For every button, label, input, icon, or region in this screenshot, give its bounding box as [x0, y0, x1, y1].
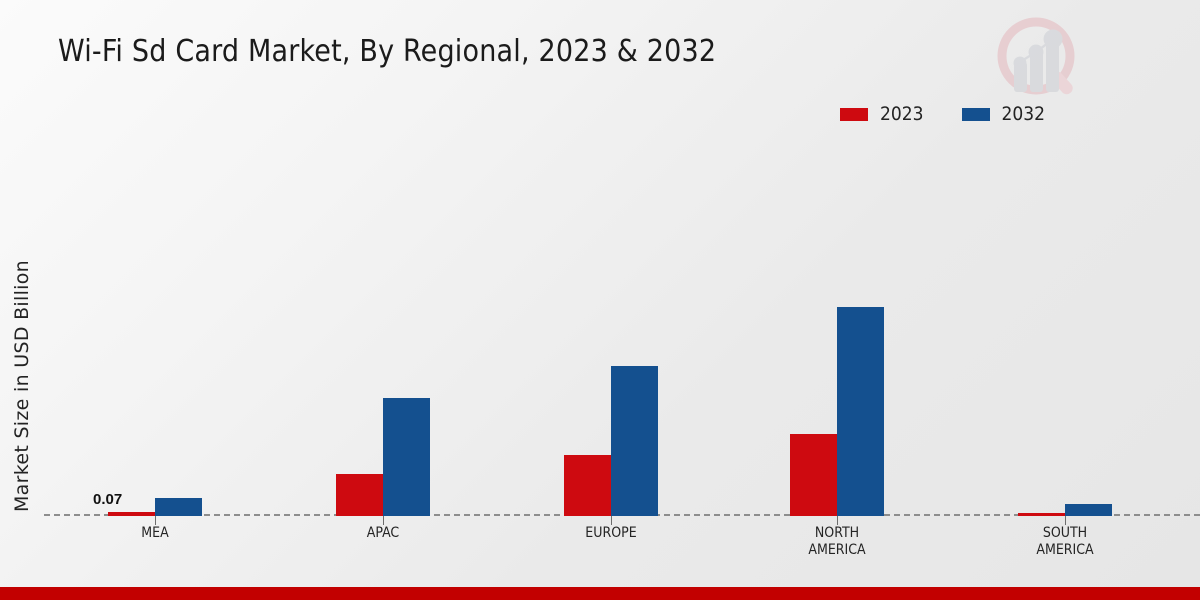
bar-mea-2032[interactable]: [155, 498, 202, 516]
plot-area: 0.07 MEA APAC EUROPE NORTH AMERICA: [44, 130, 1200, 516]
bar-apac-2032[interactable]: [383, 398, 430, 516]
bar-north-america-2023[interactable]: [790, 434, 837, 516]
category-label-europe: EUROPE: [531, 525, 691, 542]
legend-swatch-2032-icon: [962, 108, 990, 121]
bar-mea-2023[interactable]: [108, 512, 155, 516]
bar-europe-2032[interactable]: [611, 366, 658, 516]
axis-tick-europe: [611, 516, 612, 525]
category-label-mea: MEA: [75, 525, 235, 542]
bar-apac-2023[interactable]: [336, 474, 383, 516]
chart-legend: 2023 2032: [840, 100, 1045, 128]
bar-group-north-america: NORTH AMERICA: [790, 130, 884, 516]
bar-group-mea: 0.07 MEA: [108, 130, 202, 516]
y-axis-title: Market Size in USD Billion: [0, 0, 44, 600]
bar-group-apac: APAC: [336, 130, 430, 516]
y-axis-title-text: Market Size in USD Billion: [11, 260, 33, 512]
legend-swatch-2023-icon: [840, 108, 868, 121]
bar-south-america-2023[interactable]: [1018, 513, 1065, 516]
category-label-apac: APAC: [303, 525, 463, 542]
chart-page: Wi-Fi Sd Card Market, By Regional, 2023 …: [0, 0, 1200, 600]
axis-tick-south-america: [1065, 516, 1066, 525]
bar-group-europe: EUROPE: [564, 130, 658, 516]
value-label-mea-2023: 0.07: [93, 491, 122, 508]
footer-accent-bar: [0, 587, 1200, 600]
legend-item-2023[interactable]: 2023: [840, 105, 924, 124]
bar-group-south-america: SOUTH AMERICA: [1018, 130, 1112, 516]
category-label-north-america: NORTH AMERICA: [757, 525, 917, 559]
legend-item-2032[interactable]: 2032: [962, 105, 1046, 124]
legend-label-2023: 2023: [880, 105, 924, 124]
bar-north-america-2032[interactable]: [837, 307, 884, 516]
axis-tick-apac: [383, 516, 384, 525]
axis-tick-mea: [155, 516, 156, 525]
legend-label-2032: 2032: [1002, 105, 1046, 124]
axis-tick-north-america: [837, 516, 838, 525]
magnifier-bar-chart-logo-icon: [990, 8, 1094, 112]
bar-south-america-2032[interactable]: [1065, 504, 1112, 516]
category-label-south-america: SOUTH AMERICA: [985, 525, 1145, 559]
page-title: Wi-Fi Sd Card Market, By Regional, 2023 …: [58, 34, 716, 69]
bar-europe-2023[interactable]: [564, 455, 611, 516]
